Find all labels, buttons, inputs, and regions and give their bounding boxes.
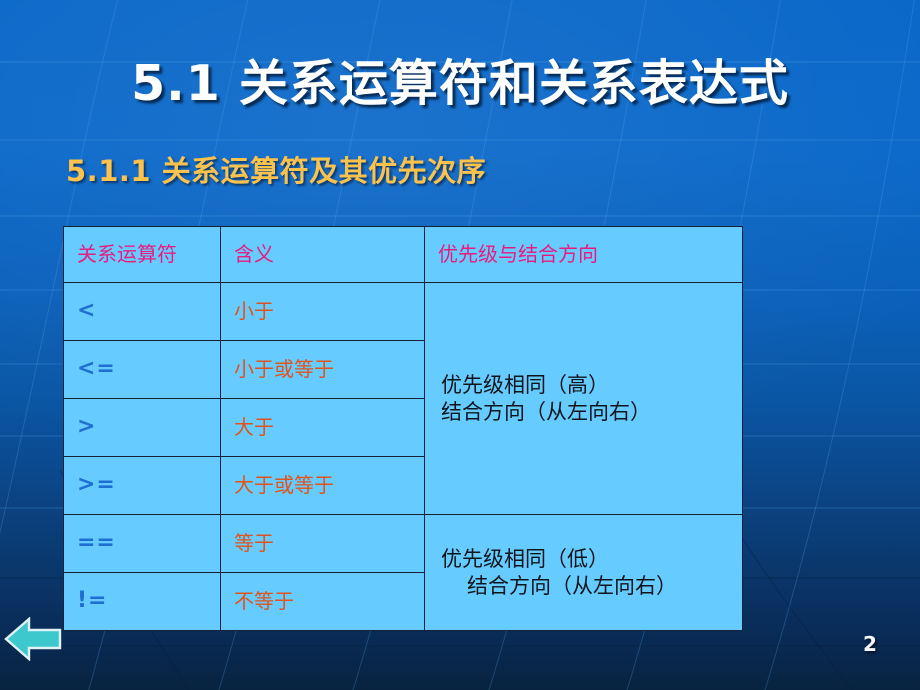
cell-meaning: 大于	[221, 399, 425, 457]
relational-operators-table: 关系运算符 含义 优先级与结合方向 < 小于 优先级相同（高） 结合方向（从左向…	[63, 226, 743, 631]
cell-precedence-high: 优先级相同（高） 结合方向（从左向右）	[425, 283, 743, 515]
relational-operators-table-wrapper: 关系运算符 含义 优先级与结合方向 < 小于 优先级相同（高） 结合方向（从左向…	[63, 226, 742, 620]
precedence-high-line2: 结合方向（从左向右）	[441, 399, 732, 426]
cell-operator: >	[64, 399, 221, 457]
page-title: 5.1 关系运算符和关系表达式	[0, 44, 920, 115]
cell-meaning: 小于	[221, 283, 425, 341]
precedence-high-line1: 优先级相同（高）	[441, 373, 609, 397]
cell-meaning: 小于或等于	[221, 341, 425, 399]
cell-precedence-low: 优先级相同（低） 结合方向（从左向右）	[425, 515, 743, 631]
slide-canvas: 5.1 关系运算符和关系表达式 5.1.1 关系运算符及其优先次序 关系运算符 …	[0, 0, 920, 690]
arrow-left-icon[interactable]	[4, 617, 62, 661]
table-header-row: 关系运算符 含义 优先级与结合方向	[64, 227, 743, 283]
precedence-low-line1: 优先级相同（低）	[441, 547, 609, 571]
cell-operator: <	[64, 283, 221, 341]
cell-operator: <=	[64, 341, 221, 399]
cell-meaning: 不等于	[221, 573, 425, 631]
precedence-low-line2: 结合方向（从左向右）	[441, 573, 732, 600]
column-header-operator: 关系运算符	[64, 227, 221, 283]
cell-meaning: 大于或等于	[221, 457, 425, 515]
section-subtitle: 5.1.1 关系运算符及其优先次序	[66, 148, 486, 190]
table-row: == 等于 优先级相同（低） 结合方向（从左向右）	[64, 515, 743, 573]
column-header-meaning: 含义	[221, 227, 425, 283]
column-header-precedence: 优先级与结合方向	[425, 227, 743, 283]
cell-meaning: 等于	[221, 515, 425, 573]
cell-operator: >=	[64, 457, 221, 515]
cell-operator: !=	[64, 573, 221, 631]
cell-operator: ==	[64, 515, 221, 573]
table-row: < 小于 优先级相同（高） 结合方向（从左向右）	[64, 283, 743, 341]
page-number: 2	[850, 632, 890, 656]
